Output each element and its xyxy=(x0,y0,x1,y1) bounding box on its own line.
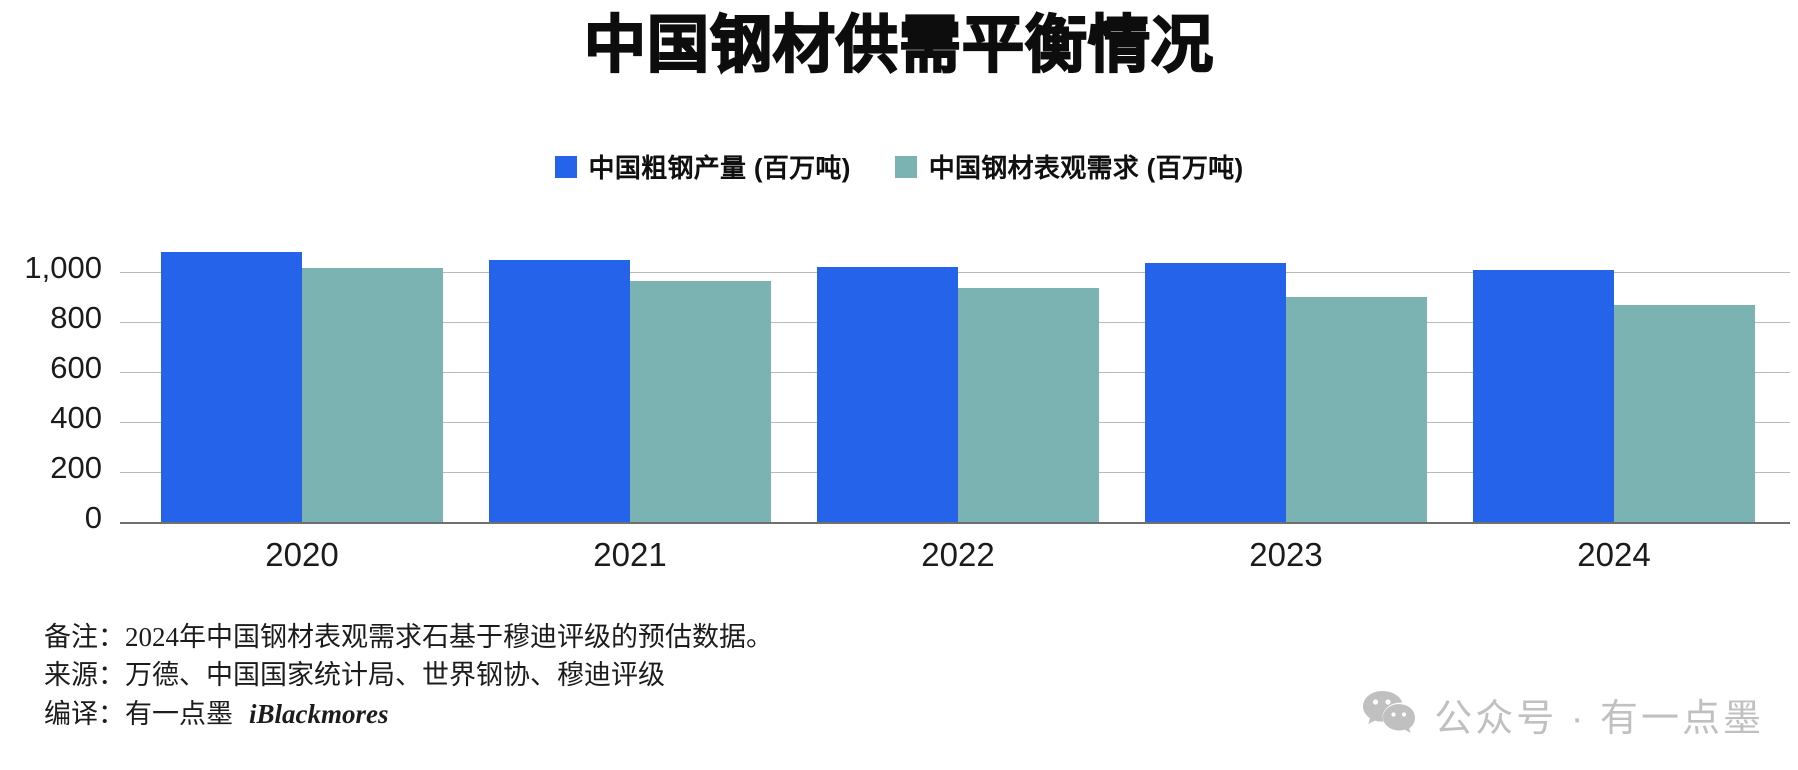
footnote-note: 备注：2024年中国钢材表观需求石基于穆迪评级的预估数据。 xyxy=(44,618,773,656)
gridline xyxy=(120,322,1790,323)
footnote-credit-prefix: 编译：有一点墨 xyxy=(44,699,233,729)
footnote-credit: 编译：有一点墨iBlackmores xyxy=(44,695,773,733)
gridline xyxy=(120,422,1790,423)
legend-swatch-production xyxy=(555,156,577,178)
gridline xyxy=(120,472,1790,473)
watermark-text: 公众号 · 有一点墨 xyxy=(1434,687,1764,742)
bar-2024-series2[interactable] xyxy=(1614,305,1755,523)
x-axis-line xyxy=(120,522,1790,524)
bar-2023-series2[interactable] xyxy=(1286,297,1427,522)
legend-label-demand: 中国钢材表观需求 (百万吨) xyxy=(929,148,1244,185)
wechat-icon xyxy=(1362,689,1416,740)
x-axis-tick-label: 2022 xyxy=(794,536,1122,574)
footnote-source: 来源：万德、中国国家统计局、世界钢协、穆迪评级 xyxy=(44,656,773,694)
y-axis-tick-label: 600 xyxy=(0,350,102,386)
y-axis-tick-label: 200 xyxy=(0,450,102,486)
y-axis-tick-label: 1,000 xyxy=(0,250,102,286)
bar-2023-series1[interactable] xyxy=(1145,263,1286,522)
page-title: 中国钢材供需平衡情况 xyxy=(0,14,1798,76)
bar-2021-series1[interactable] xyxy=(489,260,630,523)
chart-legend: 中国粗钢产量 (百万吨) 中国钢材表观需求 (百万吨) xyxy=(0,148,1798,185)
bar-2021-series2[interactable] xyxy=(630,281,771,522)
bar-2022-series2[interactable] xyxy=(958,288,1099,522)
legend-item-demand[interactable]: 中国钢材表观需求 (百万吨) xyxy=(895,148,1244,185)
gridline xyxy=(120,272,1790,273)
legend-item-production[interactable]: 中国粗钢产量 (百万吨) xyxy=(555,148,851,185)
legend-swatch-demand xyxy=(895,156,917,178)
x-axis-tick-label: 2024 xyxy=(1450,536,1778,574)
bar-2022-series1[interactable] xyxy=(817,267,958,522)
legend-label-production: 中国粗钢产量 (百万吨) xyxy=(589,148,851,185)
x-axis-tick-label: 2021 xyxy=(466,536,794,574)
x-axis-tick-label: 2020 xyxy=(138,536,466,574)
y-axis-tick-label: 800 xyxy=(0,300,102,336)
bar-2020-series1[interactable] xyxy=(161,252,302,522)
footnote-credit-latin: iBlackmores xyxy=(249,699,389,729)
bar-2024-series1[interactable] xyxy=(1473,270,1614,523)
x-axis-tick-label: 2023 xyxy=(1122,536,1450,574)
gridline xyxy=(120,372,1790,373)
y-axis-tick-label: 400 xyxy=(0,400,102,436)
watermark: 公众号 · 有一点墨 xyxy=(1362,687,1764,742)
footnotes-block: 备注：2024年中国钢材表观需求石基于穆迪评级的预估数据。 来源：万德、中国国家… xyxy=(44,618,773,733)
bar-2020-series2[interactable] xyxy=(302,268,443,522)
y-axis-tick-label: 0 xyxy=(0,500,102,536)
